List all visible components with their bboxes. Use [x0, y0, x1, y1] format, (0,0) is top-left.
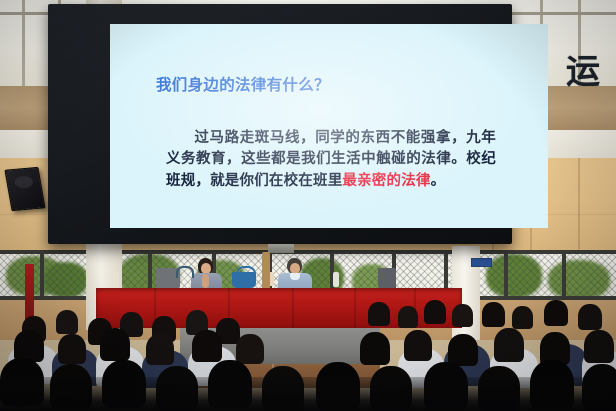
audience-head	[146, 334, 174, 365]
window-frame	[504, 250, 508, 300]
wall-seam	[578, 158, 580, 262]
audience-head	[512, 306, 533, 329]
audience-head	[58, 334, 86, 364]
speaker-cone	[14, 176, 34, 189]
foreground-shadow	[0, 377, 616, 411]
wall-speaker-left	[4, 167, 45, 211]
slide-body-line-1: 过马路走斑马线，同学的东西不能强拿，九	[194, 130, 481, 146]
police-officer-collar	[290, 273, 300, 280]
projection-screen-frame: 我们身边的法律有什么？ 过马路走斑马线，同学的东西不能强拿，九年义务教育，这些都…	[48, 4, 512, 244]
audience-head	[578, 304, 602, 330]
wall-sign-character: 运	[566, 52, 616, 92]
audience-head	[56, 310, 78, 334]
audience-head	[192, 330, 222, 362]
slide-body-highlight: 最亲密的法律	[342, 173, 430, 189]
window-mullion	[512, 12, 616, 15]
audience-head	[368, 302, 390, 326]
projection-screen-surface: 我们身边的法律有什么？ 过马路走斑马线，同学的东西不能强拿，九年义务教育，这些都…	[110, 24, 548, 228]
audience-head	[452, 304, 473, 327]
window-frame	[562, 250, 566, 300]
audience-head	[398, 306, 418, 328]
audience-head	[584, 330, 614, 363]
table-object-bottle-right	[333, 272, 339, 287]
audience-head	[494, 328, 524, 362]
table-object-bag-handle	[236, 266, 256, 276]
blue-wall-plate	[471, 258, 492, 267]
screen-mount-bracket	[268, 244, 294, 253]
audience-head	[544, 300, 568, 326]
window-frame	[40, 250, 44, 300]
audience-head	[404, 330, 432, 361]
table-object-post	[262, 252, 270, 290]
table-object-equipment	[378, 268, 396, 288]
audience-head	[236, 334, 264, 364]
audience-head	[424, 300, 446, 324]
audience-head	[482, 302, 505, 327]
audience-area	[0, 300, 616, 411]
audience-head	[448, 334, 478, 366]
slide-title: 我们身边的法律有什么？	[156, 76, 516, 95]
table-object-chair-back	[176, 266, 194, 278]
table-object-bottle-far	[112, 272, 119, 288]
audience-head	[360, 332, 390, 365]
photo-scene: 运	[0, 0, 616, 411]
slide-body: 过马路走斑马线，同学的东西不能强拿，九年义务教育，这些都是我们生活中触碰的法律。…	[166, 128, 496, 192]
slide-body-line-3-post: 。	[431, 173, 446, 189]
presenter-woman-arm	[202, 274, 209, 288]
audience-head	[100, 328, 130, 361]
